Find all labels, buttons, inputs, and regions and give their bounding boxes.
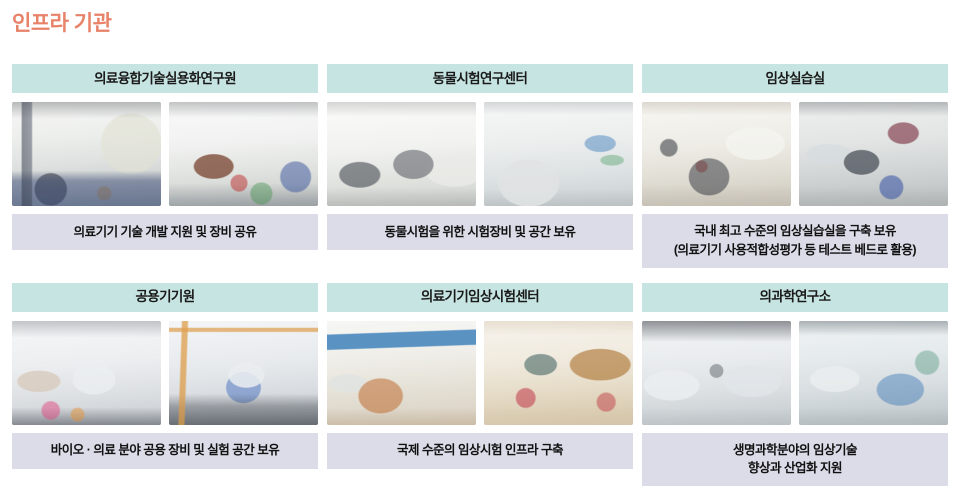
card-photo-row <box>12 93 318 214</box>
card-caption-line: 동물시험을 위한 시험장비 및 공간 보유 <box>385 223 576 242</box>
card-photo <box>799 321 948 425</box>
card-caption-line: 국내 최고 수준의 임상실습실을 구축 보유 <box>694 222 896 241</box>
card-header-title: 의료융합기술실용화연구원 <box>12 64 318 93</box>
infrastructure-card: 의과학연구소 생명과학분야의 임상기술 향상과 산업화 지원 <box>642 283 948 486</box>
infrastructure-card: 임상실습실 국내 최고 수준의 임상실습실을 구축 보유 (의료기기 사용적합성… <box>642 64 948 268</box>
card-photo-row <box>12 312 318 433</box>
card-photo <box>799 102 948 206</box>
infrastructure-card-grid: 의료융합기술실용화연구원 의료기기 기술 개발 지원 및 장비 공유 동물시험연… <box>12 64 948 486</box>
infrastructure-card: 의료융합기술실용화연구원 의료기기 기술 개발 지원 및 장비 공유 <box>12 64 318 268</box>
card-caption: 생명과학분야의 임상기술 향상과 산업화 지원 <box>642 433 948 486</box>
card-photo <box>642 321 791 425</box>
card-caption-line: 향상과 산업화 지원 <box>748 459 842 478</box>
card-caption: 국제 수준의 임상시험 인프라 구축 <box>327 433 633 469</box>
card-header-title: 의료기기임상시험센터 <box>327 283 633 312</box>
card-photo <box>169 102 318 206</box>
card-caption-line: (의료기기 사용적합성평가 등 테스트 베드로 활용) <box>674 241 916 260</box>
card-caption: 국내 최고 수준의 임상실습실을 구축 보유 (의료기기 사용적합성평가 등 테… <box>642 214 948 268</box>
card-header-title: 공용기기원 <box>12 283 318 312</box>
card-header-title: 의과학연구소 <box>642 283 948 312</box>
card-caption: 의료기기 기술 개발 지원 및 장비 공유 <box>12 214 318 250</box>
infrastructure-card: 동물시험연구센터 동물시험을 위한 시험장비 및 공간 보유 <box>327 64 633 268</box>
infrastructure-card: 의료기기임상시험센터 국제 수준의 임상시험 인프라 구축 <box>327 283 633 486</box>
card-caption-line: 생명과학분야의 임상기술 <box>733 441 857 460</box>
card-photo <box>484 321 633 425</box>
card-photo <box>169 321 318 425</box>
card-photo <box>12 102 161 206</box>
card-photo-row <box>642 93 948 214</box>
card-photo <box>484 102 633 206</box>
card-photo-row <box>642 312 948 433</box>
card-caption: 동물시험을 위한 시험장비 및 공간 보유 <box>327 214 633 250</box>
card-caption: 바이오 · 의료 분야 공용 장비 및 실험 공간 보유 <box>12 433 318 469</box>
card-photo-row <box>327 312 633 433</box>
card-photo <box>12 321 161 425</box>
card-caption-line: 바이오 · 의료 분야 공용 장비 및 실험 공간 보유 <box>51 441 279 460</box>
card-header-title: 동물시험연구센터 <box>327 64 633 93</box>
card-photo-row <box>327 93 633 214</box>
infrastructure-card: 공용기기원 바이오 · 의료 분야 공용 장비 및 실험 공간 보유 <box>12 283 318 486</box>
card-caption-line: 의료기기 기술 개발 지원 및 장비 공유 <box>74 223 257 242</box>
card-photo <box>327 102 476 206</box>
card-header-title: 임상실습실 <box>642 64 948 93</box>
page-title: 인프라 기관 <box>12 13 111 34</box>
card-photo <box>642 102 791 206</box>
card-caption-line: 국제 수준의 임상시험 인프라 구축 <box>397 441 563 460</box>
card-photo <box>327 321 476 425</box>
